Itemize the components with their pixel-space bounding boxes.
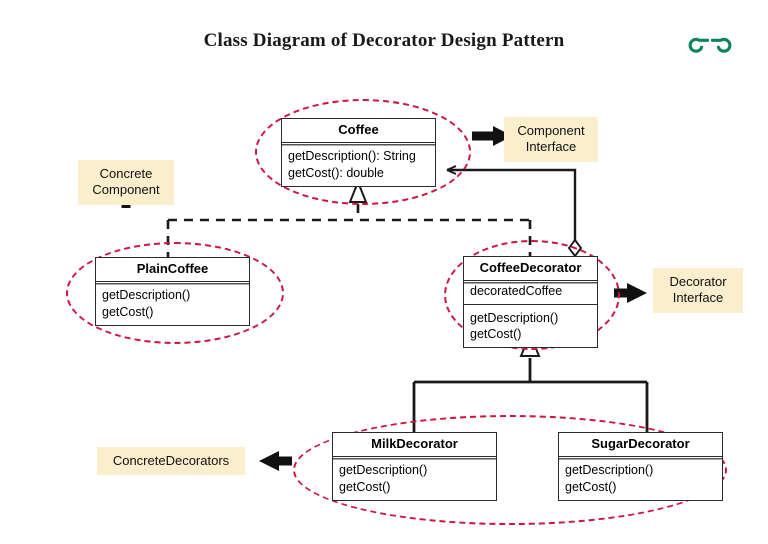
class-operations-coffeedecorator: getDescription() getCost() — [464, 305, 597, 348]
operation-item: getCost() — [339, 479, 490, 495]
class-operations-coffee: getDescription(): String getCost(): doub… — [282, 143, 435, 186]
annotation-component-interface: Component Interface — [504, 117, 598, 162]
geeksforgeeks-logo — [686, 30, 734, 56]
class-name-sugardecorator: SugarDecorator — [559, 433, 722, 457]
operation-item: getDescription() — [102, 287, 243, 303]
annotation-concrete-component: Concrete Component — [78, 160, 174, 205]
operation-item: getCost() — [102, 304, 243, 320]
class-operations-plaincoffee: getDescription() getCost() — [96, 282, 249, 325]
class-box-milkdecorator[interactable]: MilkDecorator getDescription() getCost() — [332, 432, 497, 501]
aggregation-line — [447, 170, 575, 245]
class-name-plaincoffee: PlainCoffee — [96, 258, 249, 282]
class-operations-milkdecorator: getDescription() getCost() — [333, 457, 496, 500]
operation-item: getCost() — [470, 326, 591, 342]
annotation-decorator-interface: Decorator Interface — [653, 268, 743, 313]
operation-item: getDescription() — [339, 462, 490, 478]
operation-item: getCost(): double — [288, 165, 429, 181]
class-operations-sugardecorator: getDescription() getCost() — [559, 457, 722, 500]
attribute-item: decoratedCoffee — [470, 284, 591, 300]
class-box-coffee[interactable]: Coffee getDescription(): String getCost(… — [281, 118, 436, 187]
class-name-coffeedecorator: CoffeeDecorator — [464, 257, 597, 281]
class-box-coffeedecorator[interactable]: CoffeeDecorator decoratedCoffee getDescr… — [463, 256, 598, 348]
callout-arrow-concrete-decorators — [259, 451, 292, 471]
class-box-plaincoffee[interactable]: PlainCoffee getDescription() getCost() — [95, 257, 250, 326]
class-attributes-coffeedecorator: decoratedCoffee — [464, 281, 597, 305]
class-name-milkdecorator: MilkDecorator — [333, 433, 496, 457]
annotation-concrete-decorators: ConcreteDecorators — [97, 447, 245, 475]
operation-item: getDescription(): String — [288, 148, 429, 164]
class-diagram-canvas: Class Diagram of Decorator Design Patter… — [0, 0, 768, 544]
operation-item: getDescription() — [565, 462, 716, 478]
operation-item: getDescription() — [470, 310, 591, 326]
page-title: Class Diagram of Decorator Design Patter… — [0, 30, 768, 52]
operation-item: getCost() — [565, 479, 716, 495]
class-name-coffee: Coffee — [282, 119, 435, 143]
class-box-sugardecorator[interactable]: SugarDecorator getDescription() getCost(… — [558, 432, 723, 501]
